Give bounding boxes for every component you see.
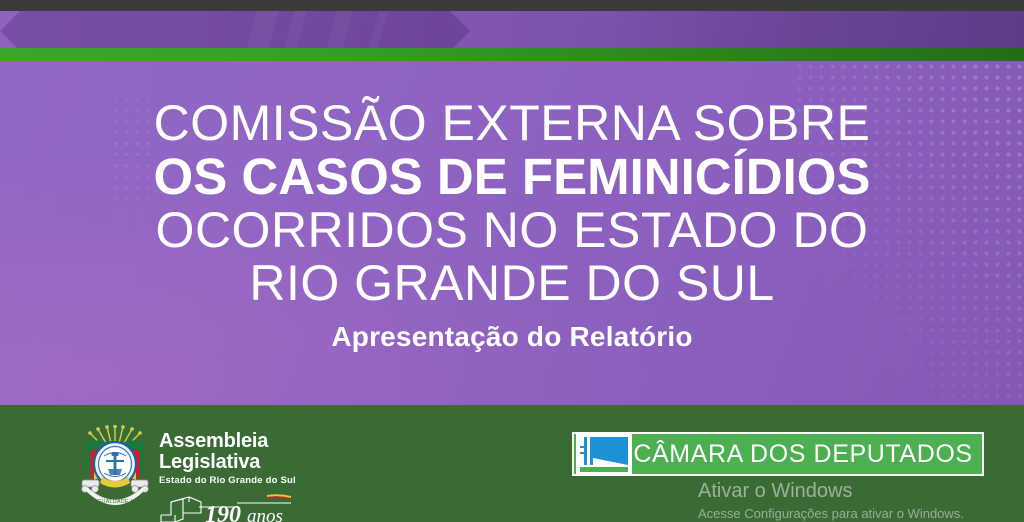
slide-title-block: COMISSÃO EXTERNA SOBRE OS CASOS DE FEMIN… (0, 61, 1024, 353)
assembleia-logo: LIBERDADE IGUALDADE HUMANIDADE Assemblei… (78, 425, 301, 522)
camara-dos-deputados-logo-icon (576, 434, 632, 474)
watermark-title: Ativar o Windows (698, 480, 998, 503)
assembleia-state-label: Estado do Rio Grande do Sul (159, 475, 301, 486)
svg-text:190: 190 (205, 502, 241, 522)
header-purple-band (0, 11, 1024, 48)
camara-dos-deputados-label: CÂMARA DOS DEPUTADOS (632, 440, 982, 469)
presentation-slide: COMISSÃO EXTERNA SOBRE OS CASOS DE FEMIN… (0, 0, 1024, 522)
header-hex-shape (0, 11, 470, 48)
assembleia-name-line-1: Assembleia (159, 431, 301, 452)
watermark-subtitle: Acesse Configurações para ativar o Windo… (698, 506, 998, 521)
svg-text:LIBERDADE IGUALDADE HUMANIDADE: LIBERDADE IGUALDADE HUMANIDADE (78, 499, 152, 505)
rio-grande-do-sul-coat-of-arms-icon: LIBERDADE IGUALDADE HUMANIDADE (78, 425, 152, 507)
svg-text:anos: anos (247, 506, 283, 522)
slide-subtitle: Apresentação do Relatório (0, 321, 1024, 353)
anniversary-190-anos-logo: 190 anos (159, 493, 301, 522)
title-line-4: RIO GRANDE DO SUL (0, 257, 1024, 310)
slide-body: COMISSÃO EXTERNA SOBRE OS CASOS DE FEMIN… (0, 61, 1024, 405)
windows-activation-watermark: Ativar o Windows Acesse Configurações pa… (698, 480, 998, 521)
camara-dos-deputados-badge: CÂMARA DOS DEPUTADOS (572, 432, 984, 476)
title-line-3: OCORRIDOS NO ESTADO DO (0, 204, 1024, 257)
header-green-stripe (0, 48, 1024, 61)
title-line-2: OS CASOS DE FEMINICÍDIOS (0, 150, 1024, 204)
title-line-1: COMISSÃO EXTERNA SOBRE (0, 97, 1024, 150)
assembleia-text: Assembleia Legislativa Estado do Rio Gra… (159, 425, 301, 522)
assembleia-name-line-2: Legislativa (159, 452, 301, 473)
window-top-bar (0, 0, 1024, 11)
